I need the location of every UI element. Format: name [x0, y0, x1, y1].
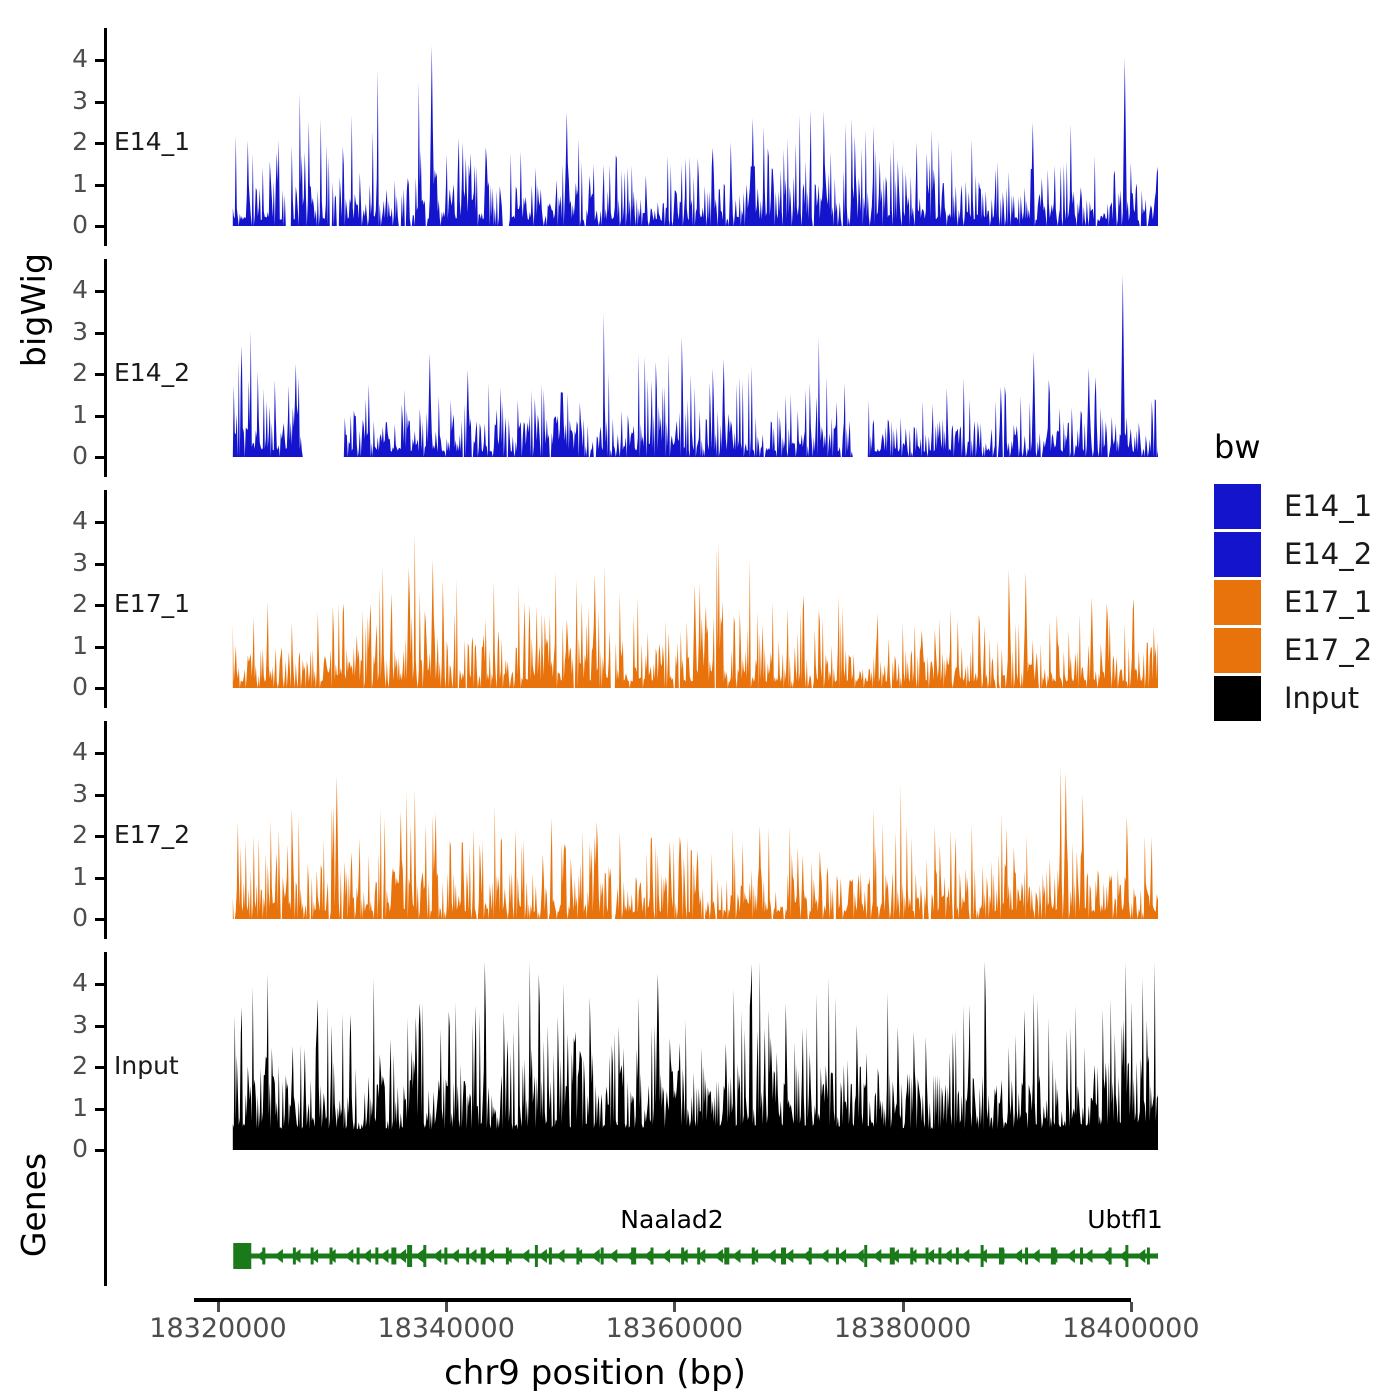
y-tick-label: 3 [56, 319, 88, 344]
y-tick-label: 4 [56, 46, 88, 71]
y-tick [95, 142, 104, 145]
y-tick [95, 794, 104, 797]
x-tick [673, 1302, 676, 1312]
panel-e14_2: 01234E14_2 [0, 253, 1190, 485]
y-axis-line [104, 28, 107, 246]
signal-track-input [118, 946, 1158, 1178]
legend-item-e14_1[interactable]: E14_1 [1214, 482, 1372, 530]
y-tick [95, 918, 104, 921]
legend-swatch [1214, 628, 1261, 673]
y-tick-label: 4 [56, 508, 88, 533]
y-tick-label: 1 [56, 1095, 88, 1120]
y-tick [95, 332, 104, 335]
y-tick [95, 752, 104, 755]
legend-title: bw [1214, 428, 1372, 466]
signal-track-e17_2 [118, 715, 1158, 947]
y-tick-label: 1 [56, 633, 88, 658]
gene-label-ubtfl1: Ubtfl1 [1087, 1205, 1163, 1234]
panel-e17_2: 01234E17_2 [0, 715, 1190, 947]
y-tick [95, 983, 104, 986]
y-tick [95, 646, 104, 649]
y-tick-label: 2 [56, 129, 88, 154]
y-tick-label: 0 [56, 905, 88, 930]
signal-track-e17_1 [118, 484, 1158, 716]
y-axis-line [104, 259, 107, 477]
y-tick-label: 1 [56, 402, 88, 427]
y-tick-label: 4 [56, 277, 88, 302]
x-axis-line [194, 1298, 1131, 1302]
y-tick [95, 521, 104, 524]
genes-axis-line [104, 1158, 107, 1286]
legend-swatch [1214, 580, 1261, 625]
y-tick-label: 1 [56, 171, 88, 196]
y-tick [95, 415, 104, 418]
y-tick [95, 687, 104, 690]
legend-swatch [1214, 484, 1261, 529]
panel-e14_1: 01234E14_1 [0, 22, 1190, 254]
legend-swatch [1214, 676, 1261, 721]
y-tick [95, 1149, 104, 1152]
y-tick [95, 456, 104, 459]
x-tick-label: 18320000 [149, 1313, 286, 1344]
legend-label: E14_2 [1284, 537, 1372, 571]
x-tick-label: 18340000 [377, 1313, 514, 1344]
y-tick [95, 877, 104, 880]
y-tick [95, 225, 104, 228]
y-tick-label: 2 [56, 1053, 88, 1078]
y-tick-label: 3 [56, 550, 88, 575]
panel-e17_1: 01234E17_1 [0, 484, 1190, 716]
legend-item-e14_2[interactable]: E14_2 [1214, 530, 1372, 578]
y-tick-label: 0 [56, 674, 88, 699]
y-tick-label: 3 [56, 781, 88, 806]
y-tick [95, 835, 104, 838]
y-tick-label: 0 [56, 443, 88, 468]
y-tick-label: 0 [56, 212, 88, 237]
y-axis-line [104, 490, 107, 708]
legend-label: E17_2 [1284, 633, 1372, 667]
y-tick-label: 2 [56, 822, 88, 847]
y-axis-line [104, 952, 107, 1170]
legend: bw E14_1E14_2E17_1E17_2Input [1214, 428, 1372, 722]
legend-label: E14_1 [1284, 489, 1372, 523]
y-tick [95, 59, 104, 62]
legend-label: E17_1 [1284, 585, 1372, 619]
y-tick-label: 3 [56, 1012, 88, 1037]
y-tick-label: 4 [56, 970, 88, 995]
y-tick [95, 1025, 104, 1028]
y-tick-label: 0 [56, 1136, 88, 1161]
x-tick-label: 18360000 [606, 1313, 743, 1344]
x-tick [902, 1302, 905, 1312]
y-tick-label: 1 [56, 864, 88, 889]
legend-item-e17_1[interactable]: E17_1 [1214, 578, 1372, 626]
legend-item-e17_2[interactable]: E17_2 [1214, 626, 1372, 674]
x-axis-title: chr9 position (bp) [0, 1353, 1190, 1393]
y-tick-label: 4 [56, 739, 88, 764]
signal-track-e14_1 [118, 22, 1158, 254]
panel-input: 01234Input [0, 946, 1190, 1178]
y-tick [95, 563, 104, 566]
legend-label: Input [1284, 681, 1359, 715]
y-tick [95, 184, 104, 187]
x-tick [1130, 1302, 1133, 1312]
y-axis-line [104, 721, 107, 939]
y-tick-label: 2 [56, 591, 88, 616]
legend-swatch [1214, 532, 1261, 577]
gene-label-naalad2: Naalad2 [620, 1205, 723, 1234]
x-tick [217, 1302, 220, 1312]
y-tick [95, 1066, 104, 1069]
y-tick [95, 604, 104, 607]
y-tick [95, 1108, 104, 1111]
y-tick [95, 101, 104, 104]
y-tick-label: 3 [56, 88, 88, 113]
y-tick [95, 290, 104, 293]
legend-item-input[interactable]: Input [1214, 674, 1372, 722]
x-tick-label: 18380000 [834, 1313, 971, 1344]
legend-entries: E14_1E14_2E17_1E17_2Input [1214, 482, 1372, 722]
x-tick-label: 18400000 [1062, 1313, 1199, 1344]
y-tick [95, 373, 104, 376]
x-tick [445, 1302, 448, 1312]
y-tick-label: 2 [56, 360, 88, 385]
signal-track-e14_2 [118, 253, 1158, 485]
